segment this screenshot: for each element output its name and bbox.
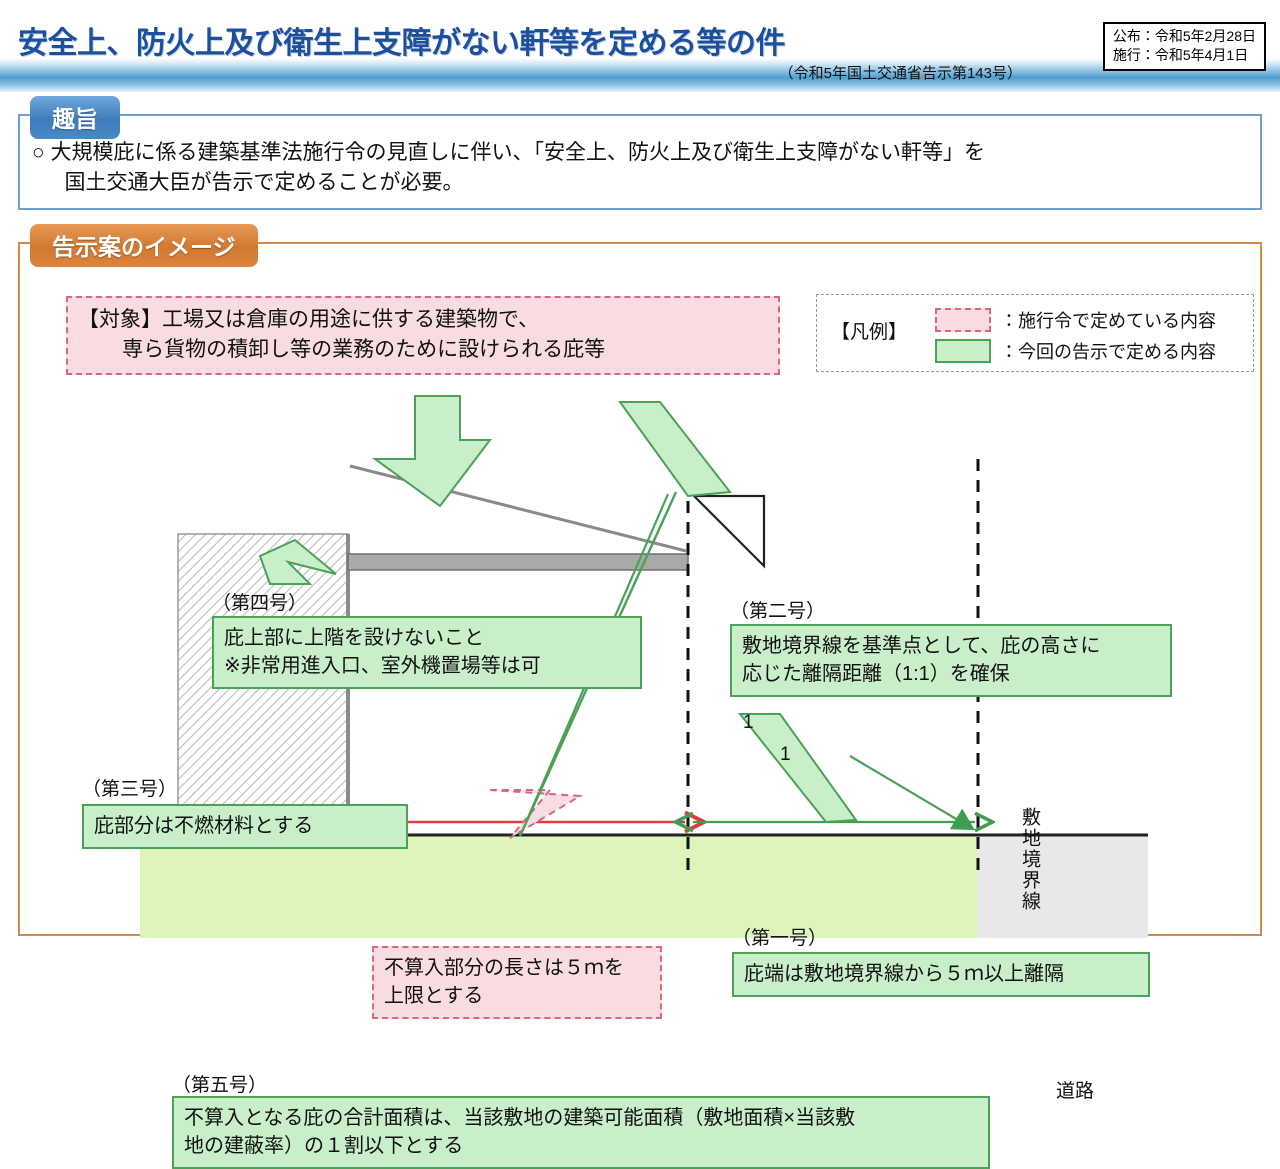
purpose-text: ○ 大規模庇に係る建築基準法施行令の見直しに伴い、「安全上、防火上及び衛生上支障… [32, 138, 1242, 199]
purpose-line-2: 国土交通大臣が告示で定めることが必要。 [32, 168, 1242, 198]
callout-item2: 敷地境界線を基準点として、庇の高さに 応じた離隔距離（1:1）を確保 [730, 624, 1172, 697]
site-boundary-label: 敷地境界線 [1016, 807, 1043, 912]
date-box: 公布：令和5年2月28日 施行：令和5年4月1日 [1103, 22, 1266, 71]
callout-item4-line2: ※非常用進入口、室外機置場等は可 [224, 652, 630, 680]
tag-item2: （第二号） [730, 596, 825, 623]
page-header: 安全上、防火上及び衛生上支障がない軒等を定める等の件 （令和5年国土交通省告示第… [0, 0, 1280, 92]
callout-item1: 庇端は敷地境界線から５ｍ以上離隔 [732, 952, 1150, 997]
callout-item5: 不算入となる庇の合計面積は、当該敷地の建築可能面積（敷地面積×当該敷 地の建蔽率… [172, 1096, 990, 1169]
callout-item1-line1: 庇端は敷地境界線から５ｍ以上離隔 [744, 960, 1138, 988]
slope-ratio-triangle [694, 496, 764, 566]
callout-leader-item4 [375, 396, 490, 506]
section-tab-draft-image: 告示案のイメージ [30, 224, 258, 267]
callout-item4: 庇上部に上階を設けないこと ※非常用進入口、室外機置場等は可 [212, 616, 642, 689]
callout-length-line2: 上限とする [384, 982, 650, 1010]
section-tab-purpose: 趣旨 [30, 96, 120, 139]
page-title: 安全上、防火上及び衛生上支障がない軒等を定める等の件 [18, 18, 785, 62]
purpose-line-1: ○ 大規模庇に係る建築基準法施行令の見直しに伴い、「安全上、防火上及び衛生上支障… [32, 138, 1242, 168]
boundary-pointer-line [850, 756, 973, 829]
notification-number: （令和5年国土交通省告示第143号） [779, 62, 1022, 83]
buildable-area-strip [140, 836, 978, 938]
callout-leader-item1 [740, 714, 856, 822]
tag-item1: （第一号） [732, 923, 827, 950]
header-gradient-band [0, 58, 1280, 92]
promulgation-date: 公布：令和5年2月28日 [1113, 27, 1256, 46]
callout-leader-length [490, 790, 580, 838]
callout-leader-item2 [620, 402, 730, 496]
canopy-leader-line [350, 466, 686, 551]
draft-image-section: 【対象】工場又は倉庫の用途に供する建築物で、 専ら貨物の積卸し等の業務のために設… [14, 224, 1266, 938]
road-label: 道路 [1056, 1076, 1094, 1103]
callout-item4-line1: 庇上部に上階を設けないこと [224, 624, 630, 652]
tag-item3: （第三号） [82, 774, 177, 801]
draft-image-body: 【対象】工場又は倉庫の用途に供する建築物で、 専ら貨物の積卸し等の業務のために設… [18, 242, 1262, 936]
tag-item5: （第五号） [172, 1070, 267, 1097]
callout-item5-line1: 不算入となる庇の合計面積は、当該敷地の建築可能面積（敷地面積×当該敷 [184, 1104, 978, 1132]
callout-item3-line1: 庇部分は不燃材料とする [94, 812, 396, 840]
enforcement-date: 施行：令和5年4月1日 [1113, 46, 1256, 65]
callout-length-line1: 不算入部分の長さは５ｍを [384, 954, 650, 982]
ratio-vertical-label: 1 [780, 744, 791, 766]
ratio-horizontal-label: 1 [743, 712, 754, 734]
callout-item3: 庇部分は不燃材料とする [82, 804, 408, 849]
tag-item4: （第四号） [212, 588, 307, 615]
callout-item5-line2: 地の建蔽率）の１割以下とする [184, 1132, 978, 1160]
building-section-diagram: （第四号） 庇上部に上階を設けないこと ※非常用進入口、室外機置場等は可 （第二… [20, 244, 1264, 938]
road-area [978, 836, 1148, 938]
purpose-section: 趣旨 ○ 大規模庇に係る建築基準法施行令の見直しに伴い、「安全上、防火上及び衛生… [14, 96, 1266, 218]
callout-item2-line1: 敷地境界線を基準点として、庇の高さに [742, 632, 1160, 660]
callout-item2-line2: 応じた離隔距離（1:1）を確保 [742, 660, 1160, 688]
callout-length-limit: 不算入部分の長さは５ｍを 上限とする [372, 946, 662, 1019]
